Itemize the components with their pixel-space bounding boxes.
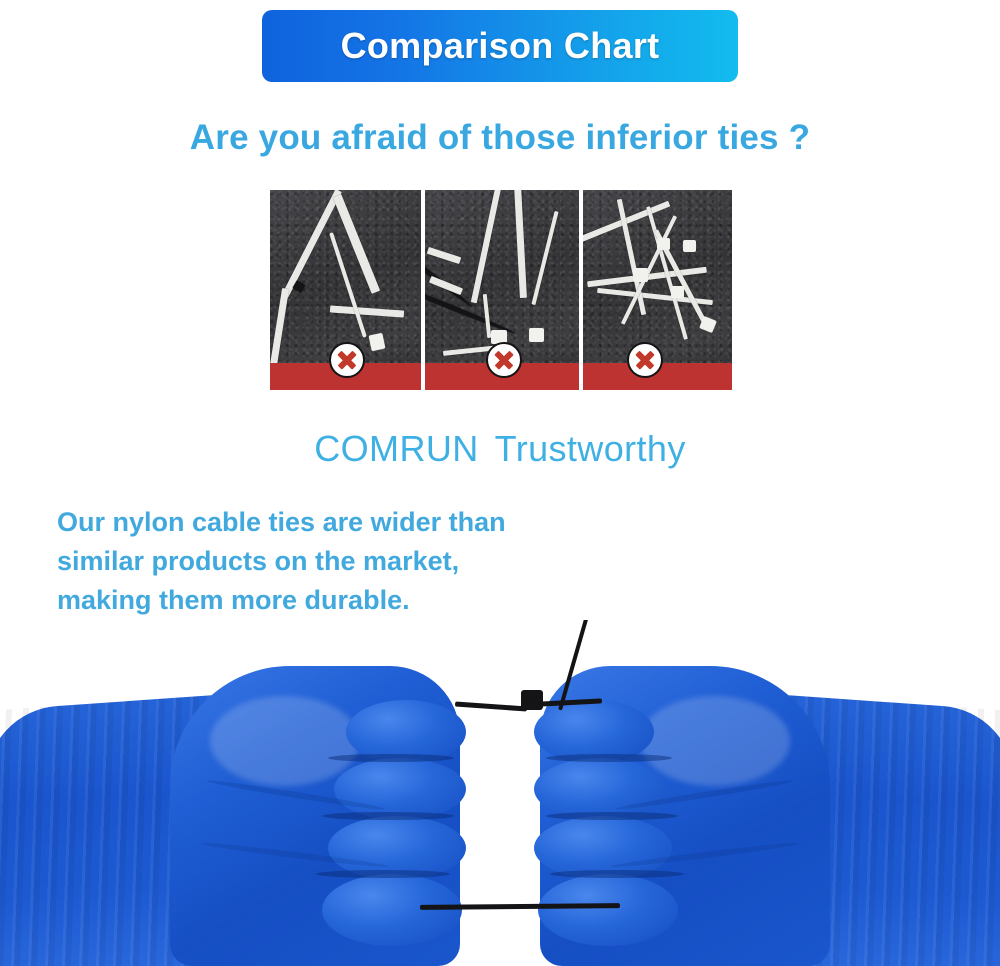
photo-panel-2 xyxy=(425,190,579,390)
gloved-hands-photo xyxy=(0,620,1000,966)
red-x-icon xyxy=(329,342,365,378)
description-line-1: Our nylon cable ties are wider than xyxy=(57,503,577,542)
description-line-2: similar products on the market, xyxy=(57,542,577,581)
brand-tagline: COMRUNTrustworthy xyxy=(0,428,1000,470)
brand-trust-word: Trustworthy xyxy=(495,428,686,469)
brand-name: COMRUN xyxy=(314,428,478,469)
red-x-icon xyxy=(627,342,663,378)
black-cable-tie xyxy=(0,620,1000,966)
description-line-3: making them more durable. xyxy=(57,581,577,620)
headline-question: Are you afraid of those inferior ties ? xyxy=(0,118,1000,158)
banner-title: Comparison Chart xyxy=(341,25,660,67)
cable-tie-strap-left xyxy=(455,701,527,711)
cable-tie-lower-strap xyxy=(420,903,620,910)
photo-panel-3 xyxy=(583,190,732,390)
product-description: Our nylon cable ties are wider than simi… xyxy=(57,503,577,620)
cable-tie-tail xyxy=(558,620,625,711)
photo-panel-1 xyxy=(270,190,421,390)
inferior-ties-photo-strip xyxy=(270,190,738,390)
comparison-chart-banner: Comparison Chart xyxy=(262,10,738,82)
cable-tie-strap-right xyxy=(540,698,602,706)
red-x-icon xyxy=(486,342,522,378)
comparison-chart-page: Comparison Chart Are you afraid of those… xyxy=(0,0,1000,966)
